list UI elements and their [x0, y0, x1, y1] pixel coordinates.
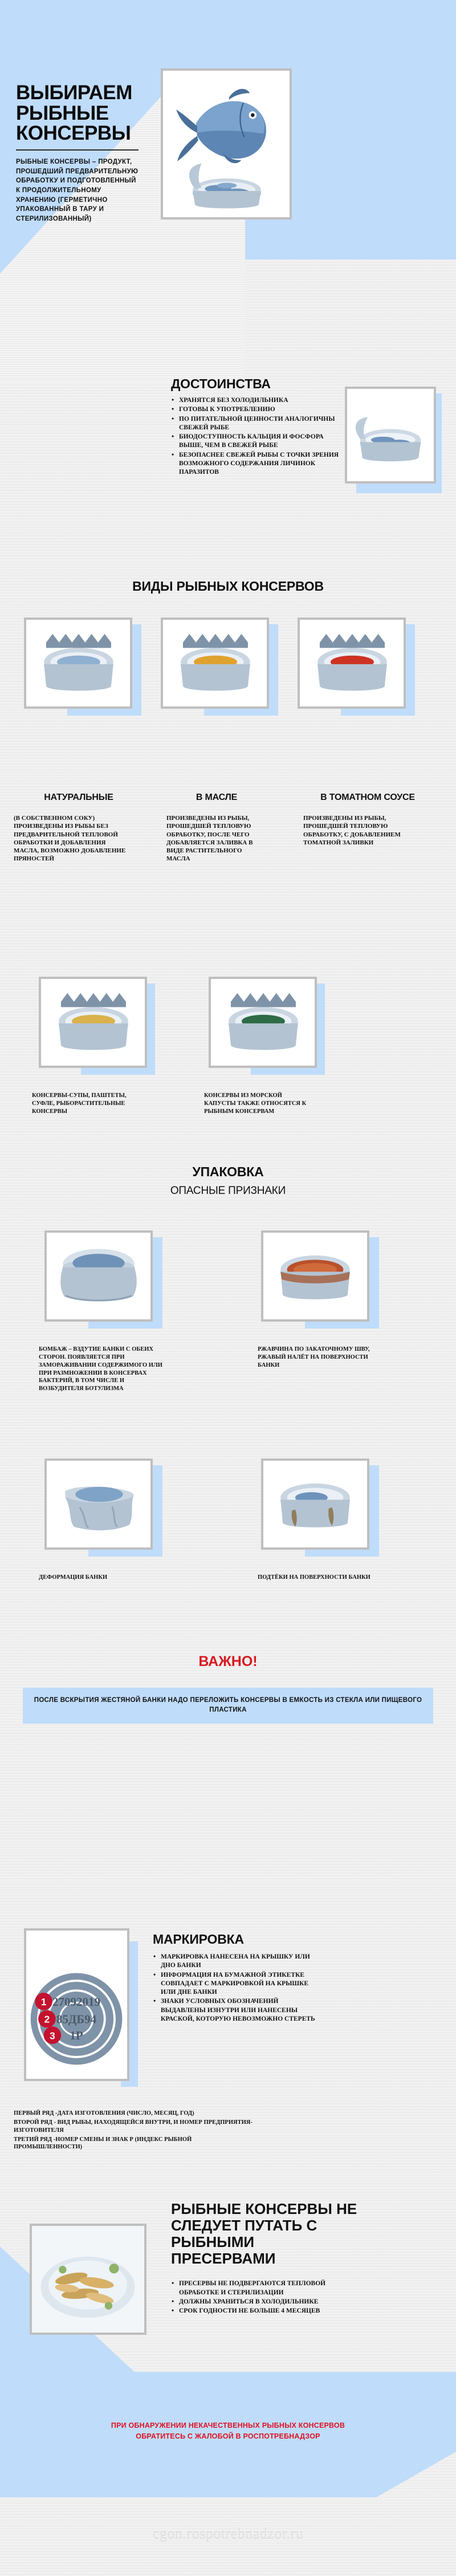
can-rusty-icon: [263, 1233, 367, 1319]
presserves-title-3: РЫБНЫМИ ПРЕСЕРВАМИ: [171, 2234, 359, 2267]
legend-row-2: ВТОРОЙ РЯД - ВИД РЫБЫ, НАХОДЯЩЕЙСЯ ВНУТР…: [14, 2119, 253, 2135]
type-col-heading-1: НАТУРАЛЬНЫЕ: [10, 793, 147, 803]
type-col-text-2: ПРОИЗВЕДЕНЫ ИЗ РЫБЫ, ПРОШЕДШЕЙ ТЕПЛОВУЮ …: [166, 814, 266, 863]
svg-text:2: 2: [44, 2014, 50, 2025]
extra-image-card-2: [209, 977, 317, 1068]
title-line-2: РЫБНЫЕ: [16, 103, 139, 124]
advantages-title: ДОСТОИНСТВА: [171, 376, 342, 392]
presserves-block: РЫБНЫЕ КОНСЕРВЫ НЕ СЛЕДУЕТ ПУТАТЬ С РЫБН…: [171, 2201, 359, 2317]
list-item: ПРЕСЕРВЫ НЕ ПОДВЕРГАЮТСЯ ТЕПЛОВОЙ ОБРАБО…: [171, 2280, 359, 2297]
list-item: ХРАНЯТСЯ БЕЗ ХОЛОДИЛЬНИКА: [171, 396, 342, 405]
hero-image-card: [161, 68, 292, 220]
list-item: БЕЗОПАСНЕЕ СВЕЖЕЙ РЫБЫ С ТОЧКИ ЗРЕНИЯ ВО…: [171, 451, 342, 477]
can-in-oil-icon: [163, 620, 267, 706]
packaging-image-card-4: [261, 1458, 369, 1550]
extra-caption-2: КОНСЕРВЫ ИЗ МОРСКОЙ КАПУСТЫ ТАКЖЕ ОТНОСЯ…: [204, 1092, 312, 1116]
packaging-subtitle: ОПАСНЫЕ ПРИЗНАКИ: [0, 1185, 456, 1197]
packaging-image-card-1: [44, 1230, 153, 1322]
types-title: ВИДЫ РЫБНЫХ КОНСЕРВОВ: [0, 579, 456, 594]
packaging-caption-1: БОМБАЖ – ВЗДУТИЕ БАНКИ С ОБЕИХ СТОРОН. П…: [39, 1346, 164, 1393]
svg-text:3: 3: [50, 2030, 55, 2041]
can-in-tomato-icon: [300, 620, 404, 706]
advantages-image-card: [345, 387, 436, 483]
footer-watermark: cgon.rospotrebnadzor.ru: [0, 2526, 456, 2543]
packaging-caption-4: ПОДТЁКИ НА ПОВЕРХНОСТИ БАНКИ: [258, 1574, 372, 1582]
presserves-title-1: РЫБНЫЕ КОНСЕРВЫ НЕ: [171, 2201, 359, 2217]
title-line-1: ВЫБИРАЕМ: [16, 83, 139, 103]
can-leaking-icon: [263, 1461, 367, 1547]
type-image-card-2: [161, 617, 269, 709]
advantages-block: ДОСТОИНСТВА ХРАНЯТСЯ БЕЗ ХОЛОДИЛЬНИКА ГО…: [171, 376, 342, 478]
type-col-text-1: (В СОБСТВЕННОМ СОКУ) ПРОИЗВЕДЕНЫ ИЗ РЫБЫ…: [14, 814, 131, 863]
open-can-with-fish-icon: [347, 389, 434, 481]
list-item: БИОДОСТУПНОСТЬ КАЛЬЦИЯ И ФОСФОРА ВЫШЕ, Ч…: [171, 433, 342, 450]
type-image-card-1: [24, 617, 132, 709]
list-item: ДОЛЖНЫ ХРАНИТЬСЯ В ХОЛОДИЛЬНИКЕ: [171, 2298, 359, 2306]
marking-legend: ПЕРВЫЙ РЯД -ДАТА ИЗГОТОВЛЕНИЯ (ЧИСЛО, МЕ…: [14, 2110, 253, 2151]
header-subtitle: РЫБНЫЕ КОНСЕРВЫ – ПРОДУКТ, ПРОШЕДШИЙ ПРЕ…: [16, 157, 139, 224]
title-line-3: КОНСЕРВЫ: [16, 123, 139, 144]
important-title: ВАЖНО!: [0, 1653, 456, 1670]
title-divider: [16, 149, 139, 151]
type-col-heading-3: В ТОМАТНОМ СОУСЕ: [285, 793, 450, 803]
marking-title: МАРКИРОВКА: [153, 1932, 318, 1947]
warning-line-2: ОБРАТИТЕСЬ С ЖАЛОБОЙ В РОСПОТРЕБНАДЗОР: [0, 2431, 456, 2442]
type-col-text-3: ПРОИЗВЕДЕНЫ ИЗ РЫБЫ, ПРОШЕДШЕЙ ТЕПЛОВУЮ …: [303, 814, 412, 847]
svg-text:27092019: 27092019: [52, 1995, 100, 2009]
can-soup-pate-icon: [41, 979, 145, 1066]
svg-text:1Р: 1Р: [70, 2029, 83, 2042]
presserves-image-card: [30, 2224, 146, 2335]
advantages-list: ХРАНЯТСЯ БЕЗ ХОЛОДИЛЬНИКА ГОТОВЫ К УПОТР…: [171, 396, 342, 477]
can-bombage-icon: [47, 1233, 150, 1319]
type-col-heading-2: В МАСЛЕ: [160, 793, 274, 803]
footer-warning: ПРИ ОБНАРУЖЕНИИ НЕКАЧЕСТВЕННЫХ РЫБНЫХ КО…: [0, 2420, 456, 2443]
extra-image-card-1: [39, 977, 147, 1068]
infographic-page: ВЫБИРАЕМ РЫБНЫЕ КОНСЕРВЫ РЫБНЫЕ КОНСЕРВЫ…: [0, 0, 456, 2576]
packaging-title: УПАКОВКА: [0, 1164, 456, 1180]
legend-label-3: ТРЕТИЙ РЯД: [14, 2136, 52, 2143]
legend-text-1: -ДАТА ИЗГОТОВЛЕНИЯ (ЧИСЛО, МЕСЯЦ, ГОД): [54, 2110, 194, 2116]
marking-image-card: 27092019 85ДБ94 1Р 1 2 3: [24, 1928, 129, 2081]
legend-label-2: ВТОРОЙ РЯД: [14, 2119, 52, 2126]
fish-illustration: [163, 71, 290, 217]
list-item: СРОК ГОДНОСТИ НЕ БОЛЬШЕ 4 МЕСЯЦЕВ: [171, 2307, 359, 2315]
presserves-title-2: СЛЕДУЕТ ПУТАТЬ С: [171, 2217, 359, 2234]
type-image-card-3: [298, 617, 406, 709]
can-lid-stamp-diagram: 27092019 85ДБ94 1Р 1 2 3: [26, 1931, 127, 2079]
list-item: ЗНАКИ УСЛОВНЫХ ОБОЗНАЧЕНИЙ ВЫДАВЛЕНЫ ИЗН…: [153, 1997, 318, 2024]
packaging-caption-2: РЖАВЧИНА ПО ЗАКАТОЧНОМУ ШВУ, РЖАВЫЙ НАЛЁ…: [258, 1346, 372, 1370]
svg-text:85ДБ94: 85ДБ94: [56, 2013, 97, 2026]
list-item: ИНФОРМАЦИЯ НА БУМАЖНОЙ ЭТИКЕТКЕ СОВПАДАЕ…: [153, 1971, 318, 1997]
list-item: ГОТОВЫ К УПОТРЕБЛЕНИЮ: [171, 405, 342, 414]
can-deformed-icon: [47, 1461, 150, 1547]
header-title-block: ВЫБИРАЕМ РЫБНЫЕ КОНСЕРВЫ РЫБНЫЕ КОНСЕРВЫ…: [16, 83, 139, 224]
svg-text:1: 1: [41, 1996, 47, 2008]
packaging-image-card-2: [261, 1230, 369, 1322]
marking-block: МАРКИРОВКА МАРКИРОВКА НАНЕСЕНА НА КРЫШКУ…: [153, 1932, 318, 2024]
important-banner: ПОСЛЕ ВСКРЫТИЯ ЖЕСТЯНОЙ БАНКИ НАДО ПЕРЕЛ…: [23, 1688, 433, 1724]
presserves-list: ПРЕСЕРВЫ НЕ ПОДВЕРГАЮТСЯ ТЕПЛОВОЙ ОБРАБО…: [171, 2280, 359, 2315]
legend-label-1: ПЕРВЫЙ РЯД: [14, 2110, 54, 2116]
can-seaweed-icon: [211, 979, 315, 1066]
warning-line-1: ПРИ ОБНАРУЖЕНИИ НЕКАЧЕСТВЕННЫХ РЫБНЫХ КО…: [0, 2420, 456, 2431]
packaging-image-card-3: [44, 1458, 153, 1550]
extra-caption-1: КОНСЕРВЫ-СУПЫ, ПАШТЕТЫ, СУФЛЕ, РЫБОРАСТИ…: [32, 1092, 146, 1116]
packaging-caption-3: ДЕФОРМАЦИЯ БАНКИ: [39, 1574, 153, 1582]
legend-row-3: ТРЕТИЙ РЯД -НОМЕР СМЕНЫ И ЗНАК Р (ИНДЕКС…: [14, 2136, 253, 2152]
can-natural-icon: [26, 620, 130, 706]
presserves-fish-plate-icon: [32, 2226, 144, 2333]
list-item: МАРКИРОВКА НАНЕСЕНА НА КРЫШКУ ИЛИ ДНО БА…: [153, 1953, 318, 1970]
list-item: ПО ПИТАТЕЛЬНОЙ ЦЕННОСТИ АНАЛОГИЧНЫ СВЕЖЕ…: [171, 415, 342, 433]
marking-list: МАРКИРОВКА НАНЕСЕНА НА КРЫШКУ ИЛИ ДНО БА…: [153, 1953, 318, 2024]
legend-row-1: ПЕРВЫЙ РЯД -ДАТА ИЗГОТОВЛЕНИЯ (ЧИСЛО, МЕ…: [14, 2110, 253, 2118]
